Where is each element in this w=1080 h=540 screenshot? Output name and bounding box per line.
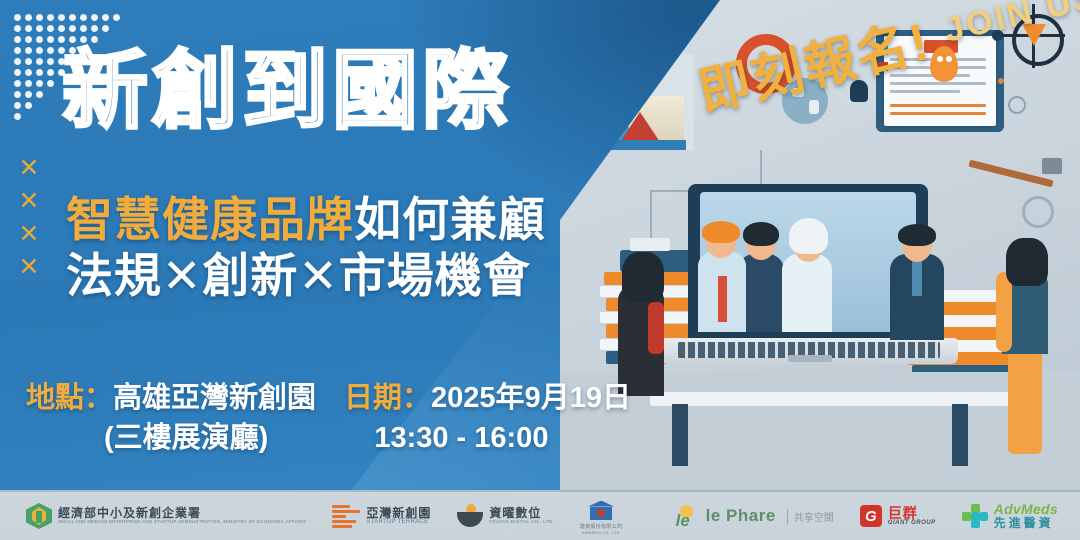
x-mark: ✕ bbox=[12, 152, 46, 185]
document-line-accent bbox=[890, 104, 986, 107]
grid-dot bbox=[36, 80, 43, 87]
logo-jianheng: 建衡股份有限公司 JIANHENG CO., LTD. bbox=[580, 498, 622, 535]
subtitle-block: 智慧健康品牌如何兼顧 法規✕創新✕市場機會 bbox=[66, 192, 546, 304]
grid-dot bbox=[25, 14, 32, 21]
grid-dot bbox=[14, 102, 21, 109]
grid-dot bbox=[47, 25, 54, 32]
grid-dot bbox=[113, 14, 120, 21]
person-left-bag bbox=[648, 302, 664, 354]
logo-subtitle: TZUYAO DIGITAL CO., LTD. bbox=[489, 520, 554, 525]
desk-top bbox=[650, 392, 1040, 406]
logo-text: AdvMeds 先進醫資 bbox=[994, 502, 1058, 529]
logo-le-phare: le le Phare 共享空間 bbox=[676, 505, 834, 527]
person-right-hair bbox=[898, 224, 936, 246]
venue-value: 高雄亞灣新創園 bbox=[113, 382, 316, 414]
grid-dot bbox=[58, 14, 65, 21]
logo-startup-terrace: 亞灣新創園 STARTUP TERRACE bbox=[332, 504, 431, 528]
person-far-hair bbox=[1006, 238, 1048, 286]
grid-dot bbox=[14, 47, 21, 54]
logo-text: 經濟部中小及新創企業署 SMALL AND MEDIUM ENTERPRISE … bbox=[58, 507, 306, 524]
grid-dot bbox=[36, 25, 43, 32]
subtitle-rest: 如何兼顧 bbox=[354, 193, 546, 246]
x-mark: ✕ bbox=[12, 185, 46, 218]
grid-dot bbox=[36, 47, 43, 54]
grid-dot bbox=[47, 36, 54, 43]
grid-dot bbox=[36, 58, 43, 65]
grid-dot bbox=[25, 102, 32, 109]
grid-dot bbox=[91, 25, 98, 32]
desk-leg-left bbox=[672, 404, 688, 466]
sponsor-footer: 經濟部中小及新創企業署 SMALL AND MEDIUM ENTERPRISE … bbox=[0, 490, 1080, 540]
person-center-hair bbox=[743, 222, 779, 246]
grid-dot bbox=[58, 25, 65, 32]
logo-name: le Phare bbox=[706, 506, 776, 526]
grid-dot bbox=[14, 25, 21, 32]
grid-dot bbox=[102, 14, 109, 21]
event-details: 地點：高雄亞灣新創園日期：2025年9月19日 (三樓展演廳)13:30 - 1… bbox=[26, 378, 631, 458]
grid-dot bbox=[47, 80, 54, 87]
grid-dot bbox=[14, 113, 21, 120]
logo-subtitle: 先進醫資 bbox=[994, 517, 1058, 530]
grid-dot bbox=[69, 14, 76, 21]
gauge-icon bbox=[1022, 196, 1054, 228]
person-suit-hair bbox=[702, 221, 740, 243]
details-row-1: 地點：高雄亞灣新創園日期：2025年9月19日 bbox=[26, 378, 631, 418]
logo-tzuyao-digital: 資曜數位 TZUYAO DIGITAL CO., LTD. bbox=[457, 504, 554, 528]
grid-dot bbox=[25, 36, 32, 43]
logo-text: 資曜數位 TZUYAO DIGITAL CO., LTD. bbox=[489, 507, 554, 524]
hammer-head bbox=[1042, 158, 1062, 174]
grid-dot bbox=[80, 14, 87, 21]
subtitle-highlight: 智慧健康品牌 bbox=[66, 193, 354, 246]
person-tie bbox=[718, 276, 727, 322]
grid-dot bbox=[14, 80, 21, 87]
time-value: 13:30 - 16:00 bbox=[374, 422, 548, 454]
person-far-legs bbox=[1008, 344, 1042, 454]
grid-dot bbox=[36, 91, 43, 98]
venue-value-2: (三樓展演廳) bbox=[26, 422, 268, 454]
logo-advmeds: AdvMeds 先進醫資 bbox=[962, 502, 1058, 529]
grid-dot bbox=[47, 58, 54, 65]
logo-name: 建衡股份有限公司 bbox=[580, 523, 622, 530]
grid-dot bbox=[36, 69, 43, 76]
hexagon-emblem-icon bbox=[26, 503, 52, 529]
grid-dot bbox=[102, 25, 109, 32]
bars-emblem-icon bbox=[332, 504, 360, 528]
logo-text: 亞灣新創園 STARTUP TERRACE bbox=[366, 507, 431, 526]
document-line bbox=[890, 82, 986, 85]
grid-dot bbox=[36, 14, 43, 21]
medical-cross-icon bbox=[962, 504, 988, 528]
person-left-hair bbox=[622, 252, 664, 302]
grid-dot bbox=[25, 58, 32, 65]
subtitle-line-1: 智慧健康品牌如何兼顧 bbox=[66, 192, 546, 248]
page-title: 新創到國際 bbox=[62, 48, 512, 136]
grid-dot bbox=[25, 69, 32, 76]
event-banner: ✕ ✕ ✕ ✕ 新創到國際 智慧健康品牌如何兼顧 法規✕創新✕市場機會 地點：高… bbox=[0, 0, 1080, 540]
logo-moea-sme: 經濟部中小及新創企業署 SMALL AND MEDIUM ENTERPRISE … bbox=[26, 503, 306, 529]
grid-dot bbox=[25, 91, 32, 98]
logo-subtitle: 共享空間 bbox=[787, 509, 834, 524]
laptop-trackpad bbox=[788, 355, 832, 362]
g-letter-icon: G bbox=[860, 505, 882, 527]
subtitle-line-2: 法規✕創新✕市場機會 bbox=[66, 248, 546, 304]
details-row-2: (三樓展演廳)13:30 - 16:00 bbox=[26, 418, 631, 458]
grid-dot bbox=[14, 14, 21, 21]
person-woman-hair bbox=[789, 218, 828, 254]
logo-name: 巨群 bbox=[888, 506, 936, 521]
grid-dot bbox=[14, 36, 21, 43]
x-mark: ✕ bbox=[12, 218, 46, 251]
venue-label: 地點： bbox=[26, 382, 113, 414]
small-dot bbox=[998, 78, 1004, 84]
grid-dot bbox=[25, 47, 32, 54]
paper-out bbox=[630, 238, 670, 251]
x-mark: ✕ bbox=[12, 251, 46, 284]
document-line bbox=[890, 90, 960, 93]
grid-dot bbox=[80, 25, 87, 32]
person-right-tie bbox=[912, 260, 922, 296]
sun-bowl-emblem-icon bbox=[457, 504, 483, 528]
globe-land-b bbox=[809, 100, 819, 114]
grid-dot bbox=[47, 47, 54, 54]
grid-dot bbox=[25, 80, 32, 87]
cta-text-en[interactable]: JOIN US! bbox=[941, 0, 1080, 51]
building-emblem-icon bbox=[588, 498, 614, 522]
grid-dot bbox=[14, 91, 21, 98]
logo-giant-group: G 巨群 GIANT GROUP bbox=[860, 505, 936, 527]
small-ring bbox=[1008, 96, 1026, 114]
grid-dot bbox=[47, 14, 54, 21]
date-value: 2025年9月19日 bbox=[431, 382, 631, 414]
logo-subtitle: STARTUP TERRACE bbox=[366, 519, 431, 525]
logo-name: AdvMeds bbox=[994, 502, 1058, 517]
logo-subtitle: SMALL AND MEDIUM ENTERPRISE AND STARTUP … bbox=[58, 520, 306, 525]
document-line-accent bbox=[890, 112, 986, 115]
date-label: 日期： bbox=[344, 382, 431, 414]
person-far-sleeve bbox=[996, 272, 1012, 352]
logo-subtitle: JIANHENG CO., LTD. bbox=[581, 531, 621, 535]
grid-dot bbox=[47, 69, 54, 76]
grid-dot bbox=[36, 36, 43, 43]
sun-le-icon: le bbox=[676, 505, 700, 527]
grid-dot bbox=[14, 58, 21, 65]
x-mark-decoration: ✕ ✕ ✕ ✕ bbox=[12, 152, 46, 284]
logo-name: 亞灣新創園 bbox=[366, 507, 431, 520]
sponsor-group-right: le le Phare 共享空間 G 巨群 GIANT GROUP bbox=[676, 502, 1080, 529]
logo-subtitle: GIANT GROUP bbox=[888, 520, 936, 526]
sponsor-group-left: 經濟部中小及新創企業署 SMALL AND MEDIUM ENTERPRISE … bbox=[0, 498, 622, 535]
grid-dot bbox=[25, 25, 32, 32]
grid-dot bbox=[91, 14, 98, 21]
desk-leg-right bbox=[952, 404, 968, 466]
grid-dot bbox=[14, 69, 21, 76]
grid-dot bbox=[69, 25, 76, 32]
logo-text: 巨群 GIANT GROUP bbox=[888, 506, 936, 527]
person-woman-body bbox=[782, 254, 832, 332]
